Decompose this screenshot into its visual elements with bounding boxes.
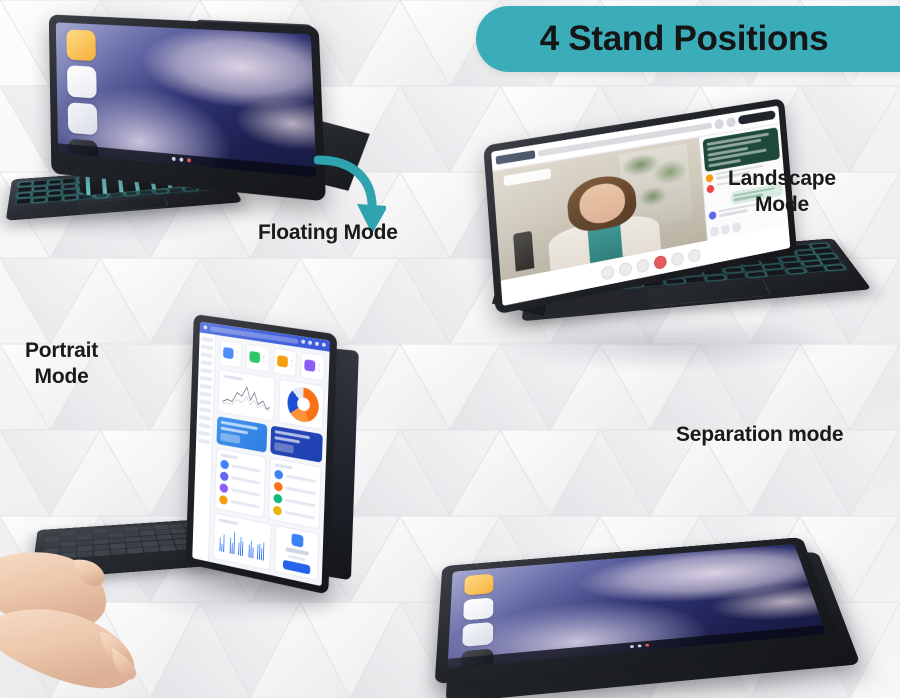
floating-mode-label: Floating Mode <box>258 220 398 246</box>
app-icon-store[interactable] <box>464 574 494 596</box>
app-icon-browser[interactable] <box>463 597 494 620</box>
stat-card[interactable] <box>219 339 243 368</box>
participants-button[interactable] <box>670 251 683 266</box>
end-call-button[interactable] <box>653 254 667 269</box>
donut-chart-card[interactable] <box>278 378 324 430</box>
line-chart-card[interactable] <box>217 369 276 422</box>
mic-button[interactable] <box>600 265 614 281</box>
bar-chart-card[interactable] <box>212 512 272 571</box>
app-icon-store[interactable] <box>66 29 95 61</box>
landscape-mode-scene <box>470 120 870 370</box>
separation-mode-label: Separation mode <box>676 422 843 448</box>
stat-card[interactable] <box>300 351 325 381</box>
portrait-tablet-screen[interactable] <box>192 322 330 587</box>
app-icon-browser[interactable] <box>67 65 96 98</box>
floating-tablet-shell <box>49 14 326 201</box>
share-screen-button[interactable] <box>636 258 650 274</box>
portrait-mode-label: Portrait Mode <box>25 338 98 391</box>
line-chart <box>222 380 271 412</box>
app-icon-social[interactable] <box>69 175 99 177</box>
app-icon-gallery[interactable] <box>68 102 97 135</box>
separation-tablet-group <box>427 536 874 698</box>
floating-tablet-screen[interactable] <box>56 22 317 177</box>
infographic-canvas: 4 Stand Positions <box>0 0 900 698</box>
background-lamp <box>513 231 535 272</box>
home-app-icon-column[interactable] <box>66 29 97 126</box>
stat-card[interactable] <box>246 343 270 372</box>
bar-chart <box>217 524 267 561</box>
promo-card-secondary[interactable] <box>270 425 323 463</box>
dashboard-content <box>208 335 329 587</box>
more-options-button[interactable] <box>687 248 700 263</box>
landscape-mode-label: Landscape Mode <box>728 166 836 219</box>
summary-card[interactable] <box>274 525 319 581</box>
portrait-tablet-group <box>179 324 372 597</box>
separation-mode-scene <box>430 470 900 698</box>
donut-chart <box>287 385 319 424</box>
contacts-card[interactable] <box>268 457 322 529</box>
participant-avatar-1 <box>714 118 724 129</box>
stat-card[interactable] <box>273 347 298 377</box>
dashboard-app[interactable] <box>192 322 330 587</box>
app-logo <box>496 150 535 165</box>
portrait-tablet-shell <box>186 314 338 595</box>
floating-mode-scene <box>8 14 368 244</box>
summary-action-button[interactable] <box>283 560 310 575</box>
header-banner: 4 Stand Positions <box>476 6 900 72</box>
home-app-icon-column[interactable] <box>462 574 494 651</box>
separation-tablet-screen[interactable] <box>447 544 826 668</box>
camera-button[interactable] <box>618 261 632 277</box>
promo-card-primary[interactable] <box>216 416 267 453</box>
app-icon-gallery[interactable] <box>462 622 493 647</box>
banner-title: 4 Stand Positions <box>540 19 829 59</box>
landscape-shadow <box>498 316 828 372</box>
table-card[interactable] <box>214 448 266 519</box>
participant-avatar-2 <box>726 116 736 127</box>
meeting-action-button[interactable] <box>738 110 775 125</box>
